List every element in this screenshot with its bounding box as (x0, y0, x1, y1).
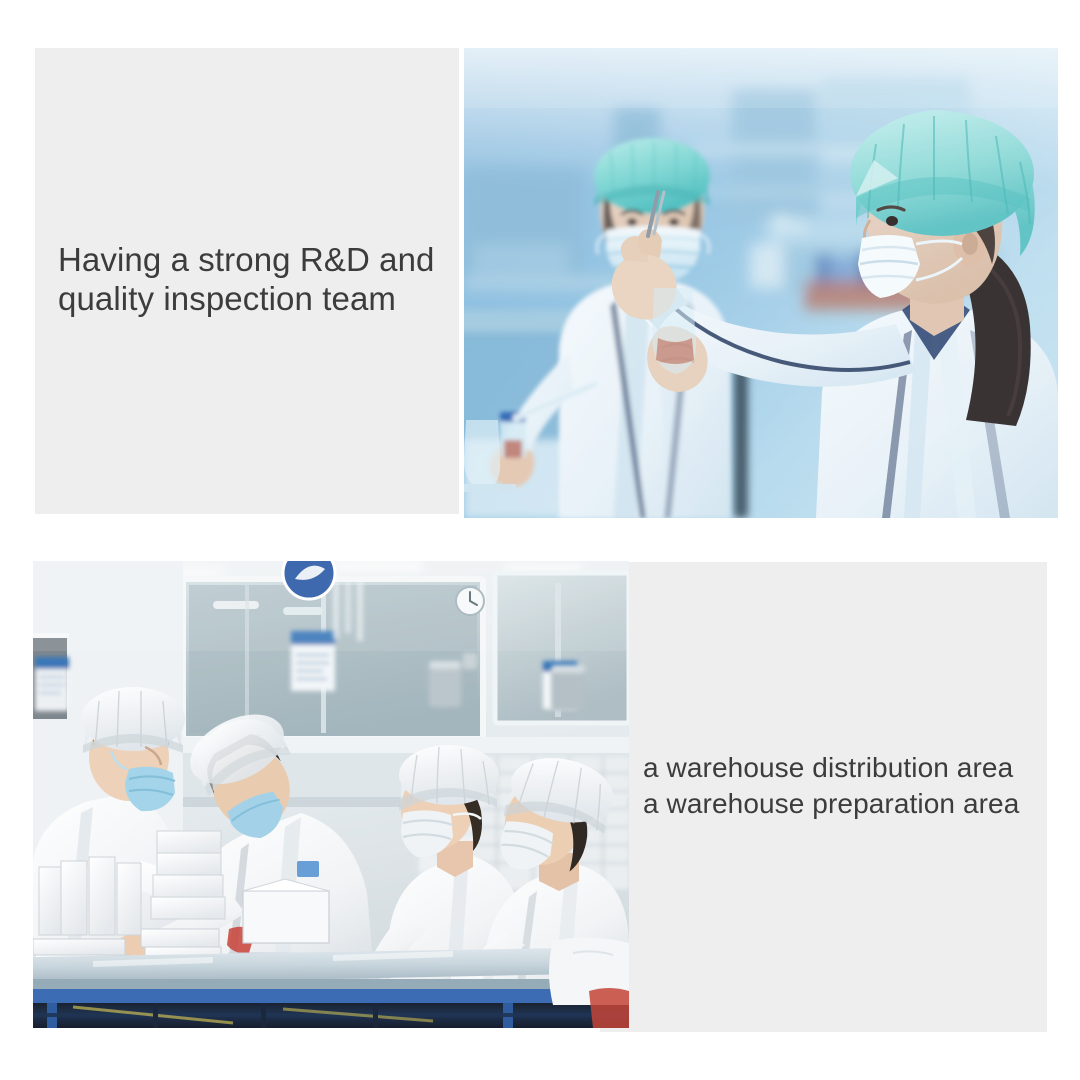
top-caption-text: Having a strong R&D and quality inspecti… (58, 240, 458, 318)
poster-canvas: Having a strong R&D and quality inspecti… (0, 0, 1080, 1080)
warehouse-packing-photo (33, 561, 629, 1028)
rd-quality-inspection-photo (464, 48, 1058, 518)
warehouse-packing-illustration (33, 561, 629, 1028)
rd-quality-inspection-illustration (464, 48, 1058, 518)
bottom-caption-text: a warehouse distribution area a warehous… (643, 750, 1063, 822)
